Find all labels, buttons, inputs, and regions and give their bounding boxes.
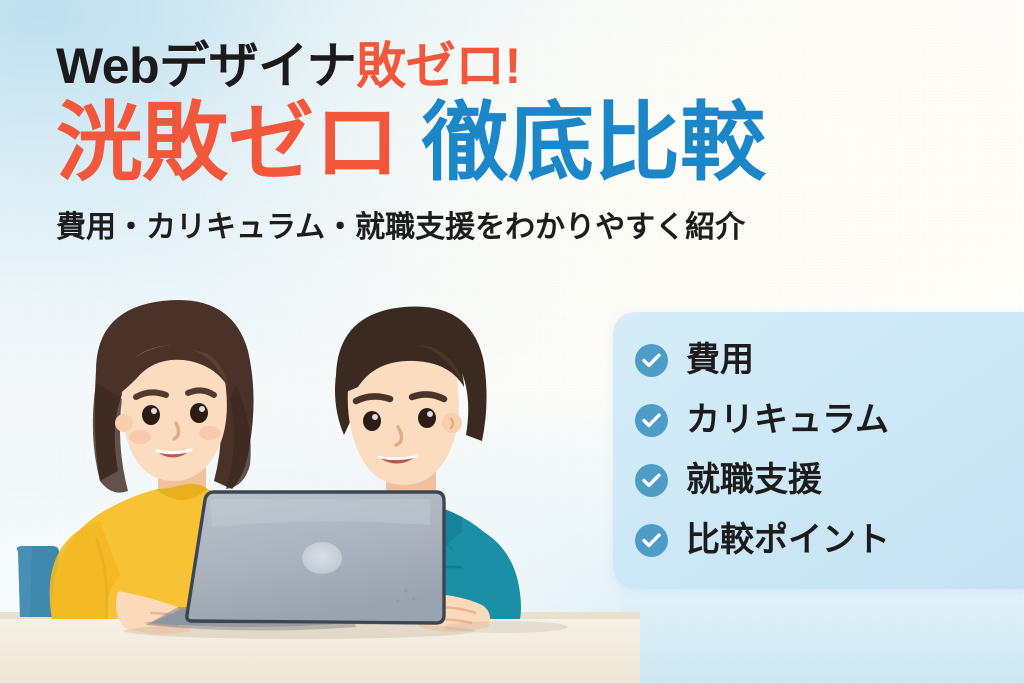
checklist-item: 就職支援	[635, 450, 1024, 510]
headline-line-2-blue: 徹底比較	[422, 95, 766, 191]
checklist-item: 費用	[635, 330, 1024, 390]
headline-line-1-black: Webデザイナ	[56, 38, 356, 94]
checklist-item-label: 費用	[686, 343, 754, 377]
headline-block: Webデザイナ敗ゼロ! 洸敗ゼロ徹底比較 費用・カリキュラム・就職支援をわかりや…	[56, 40, 956, 246]
two-people-at-laptop-illustration	[0, 275, 640, 683]
checklist-item: 比較ポイント	[635, 510, 1024, 570]
checklist-panel: 費用 カリキュラム 就職支援 比較ポイント	[613, 312, 1024, 589]
laptop-logo	[302, 542, 342, 574]
checklist-item-label: カリキュラム	[686, 403, 889, 437]
headline-line-1: Webデザイナ敗ゼロ!	[56, 40, 956, 93]
checklist-item-label: 就職支援	[686, 463, 822, 497]
checklist-item-label: 比較ポイント	[686, 523, 890, 557]
hero-banner: Webデザイナ敗ゼロ! 洸敗ゼロ徹底比較 費用・カリキュラム・就職支援をわかりや…	[0, 0, 1024, 683]
headline-line-1-orange: 敗ゼロ!	[356, 38, 521, 94]
checklist-item: カリキュラム	[635, 390, 1024, 450]
headline-subtitle: 費用・カリキュラム・就職支援をわかりやすく紹介	[56, 202, 956, 246]
headline-line-2: 洸敗ゼロ徹底比較	[56, 99, 956, 188]
headline-line-2-orange: 洸敗ゼロ	[56, 95, 400, 191]
